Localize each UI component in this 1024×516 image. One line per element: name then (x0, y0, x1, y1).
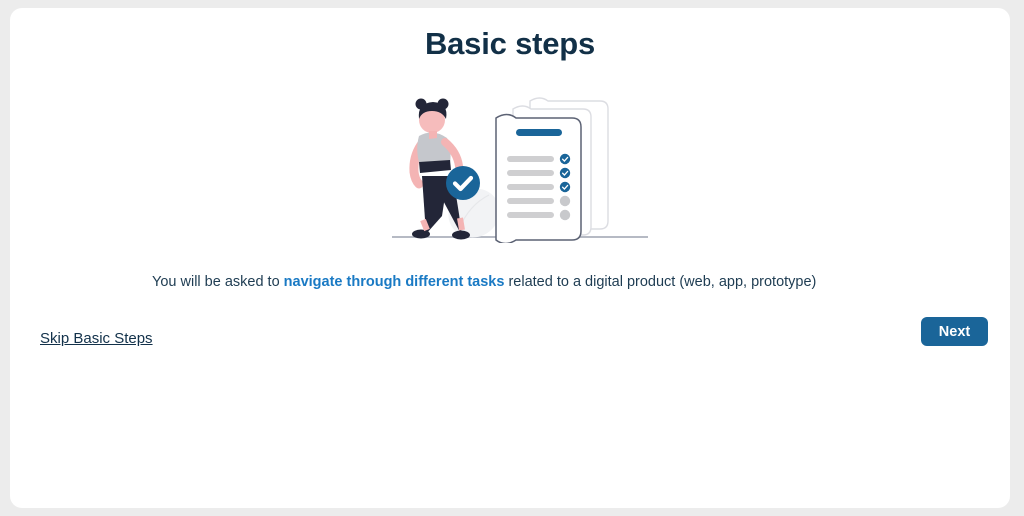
onboarding-card: Basic steps (10, 8, 1010, 508)
person-waistband (419, 160, 451, 173)
checklist-line (507, 156, 554, 162)
next-button[interactable]: Next (921, 317, 988, 346)
checklist-line (507, 184, 554, 190)
paper-header-bar (516, 129, 562, 136)
checklist-line (507, 170, 554, 176)
person-front-shoe (452, 231, 470, 240)
person-hair-bun-right (438, 99, 449, 110)
checklist-empty-icon (560, 196, 570, 206)
person-front-ankle (460, 218, 462, 230)
checklist-empty-icon (560, 210, 570, 220)
basic-steps-illustration (373, 88, 648, 243)
description-after: related to a digital product (web, app, … (504, 274, 816, 290)
skip-basic-steps-link[interactable]: Skip Basic Steps (40, 330, 153, 347)
checklist-check-icon (560, 168, 570, 178)
person-back-ankle (423, 220, 427, 230)
illustration-svg (373, 88, 648, 243)
description-highlight: navigate through different tasks (284, 274, 505, 290)
person-hair-bun-left (416, 99, 427, 110)
checklist-line (507, 198, 554, 204)
description-before: You will be asked to (152, 274, 284, 290)
person-back-shoe (412, 230, 430, 239)
checklist-check-icon (560, 182, 570, 192)
check-badge-icon (446, 166, 480, 200)
checklist-check-icon (560, 154, 570, 164)
page-title: Basic steps (10, 26, 1010, 62)
description-text: You will be asked to navigate through di… (152, 271, 870, 294)
checklist-line (507, 212, 554, 218)
person-neck (429, 131, 437, 139)
